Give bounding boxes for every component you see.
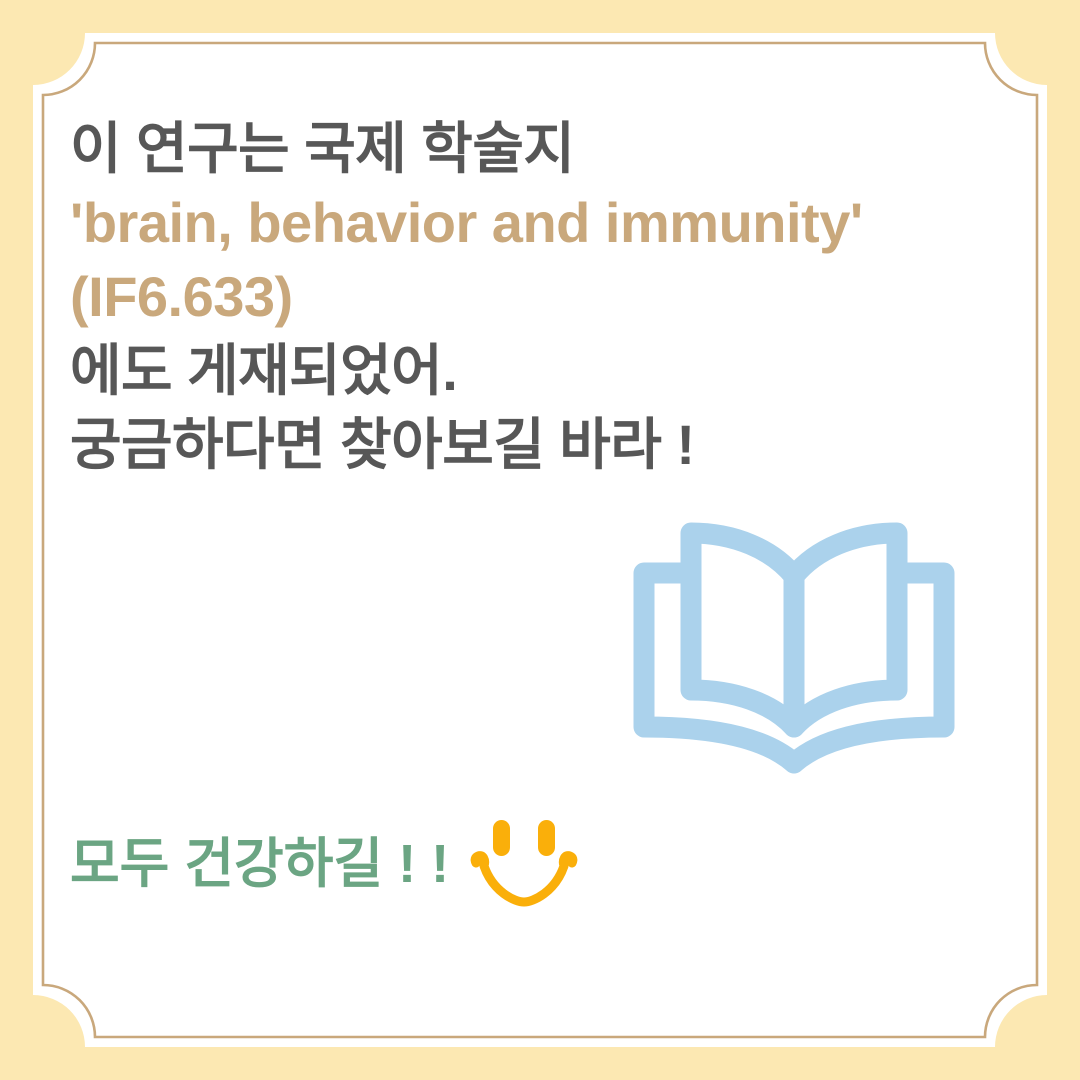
message-line-2-journal: 'brain, behavior and immunity' <box>70 186 1030 260</box>
closing-text: 모두 건강하길 ! ! <box>70 826 449 902</box>
smiley-face-icon <box>463 818 585 910</box>
open-book-icon <box>624 505 964 775</box>
message-line-5: 궁금하다면 찾아보길 바라 ! <box>70 408 1030 482</box>
message-line-1: 이 연구는 국제 학술지 <box>70 112 1030 186</box>
message-line-4: 에도 게재되었어. <box>70 334 1030 408</box>
card-canvas: 이 연구는 국제 학술지 'brain, behavior and immuni… <box>0 0 1080 1080</box>
message-line-3-impact-factor: (IF6.633) <box>70 260 1030 334</box>
closing-block: 모두 건강하길 ! ! <box>70 818 585 910</box>
message-block: 이 연구는 국제 학술지 'brain, behavior and immuni… <box>70 112 1030 482</box>
